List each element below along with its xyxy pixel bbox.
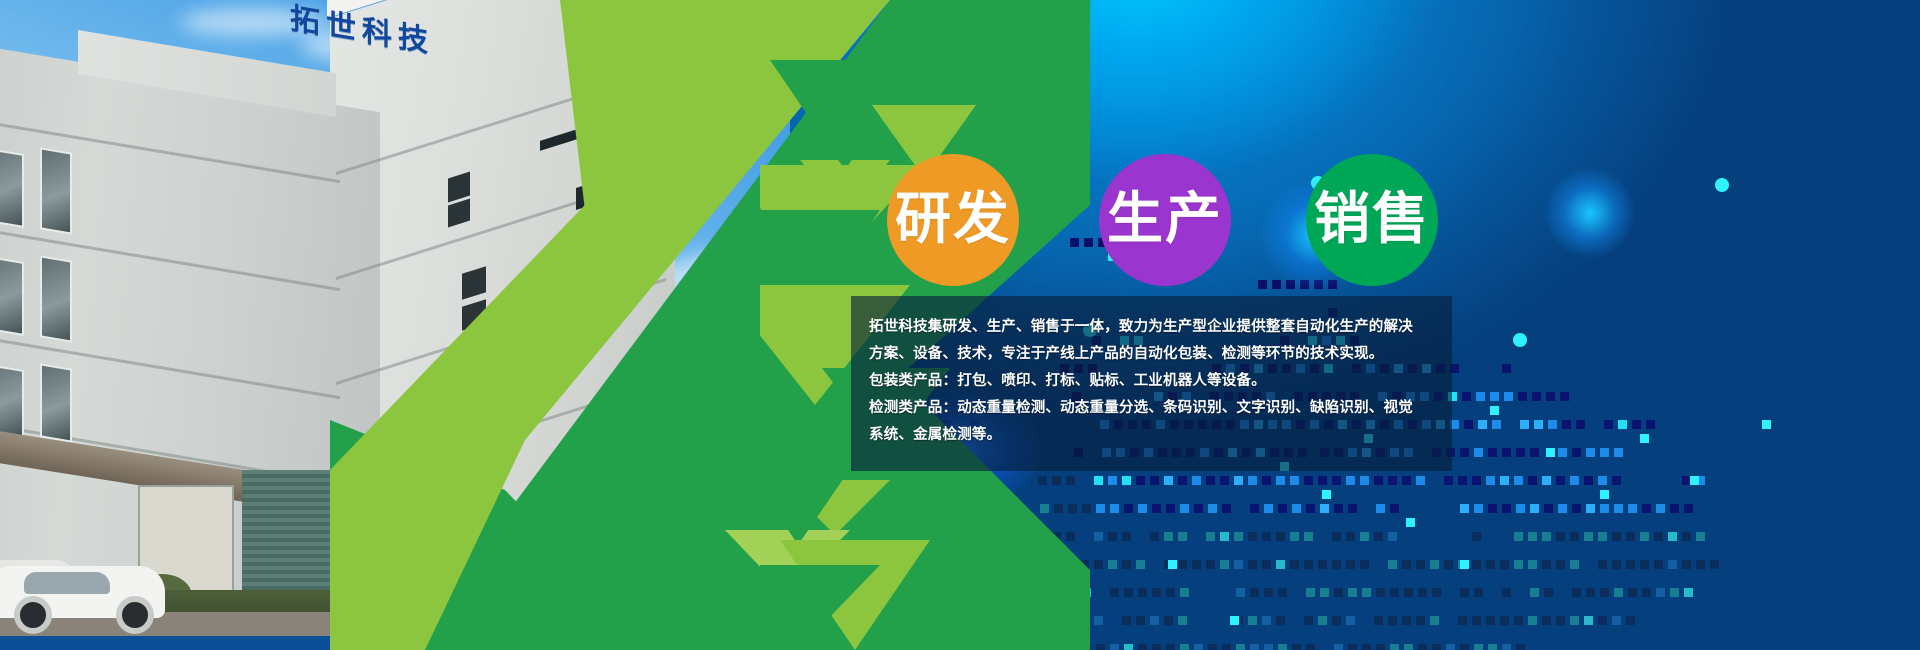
badge-circle-sales[interactable]: 销售 [1306, 154, 1438, 286]
badge-circle-production[interactable]: 生产 [1099, 154, 1231, 286]
badge-circle-production-label: 生产 [1107, 192, 1223, 248]
badge-circle-rd-label: 研发 [895, 192, 1011, 248]
car-wheel [116, 596, 154, 634]
badge-circle-sales-label: 销售 [1314, 192, 1430, 248]
description-line-5: 系统、金属检测等。 [869, 422, 1444, 449]
building-window [40, 147, 72, 234]
cyan-glow-right [1545, 168, 1635, 258]
description-panel-text: 拓世科技集研发、生产、销售于一体，致力为生产型企业提供整套自动化生产的解决 方案… [869, 314, 1444, 449]
badge-circle-rd[interactable]: 研发 [887, 154, 1019, 286]
description-line-3: 包装类产品：打包、喷印、打标、贴标、工业机器人等设备。 [869, 368, 1444, 395]
building-window [0, 146, 24, 228]
building-window [0, 254, 24, 336]
car-window [24, 572, 110, 594]
description-line-1: 拓世科技集研发、生产、销售于一体，致力为生产型企业提供整套自动化生产的解决 [869, 314, 1444, 341]
description-line-4: 检测类产品：动态重量检测、动态重量分选、条码识别、文字识别、缺陷识别、视觉 [869, 395, 1444, 422]
company-hero-banner: 拓世科技 [0, 0, 1920, 650]
car-wheel [14, 596, 52, 634]
building-window [0, 362, 24, 438]
description-line-2: 方案、设备、技术，专注于产线上产品的自动化包装、检测等环节的技术实现。 [869, 341, 1444, 368]
building-window [40, 255, 72, 342]
building-window [40, 363, 72, 442]
